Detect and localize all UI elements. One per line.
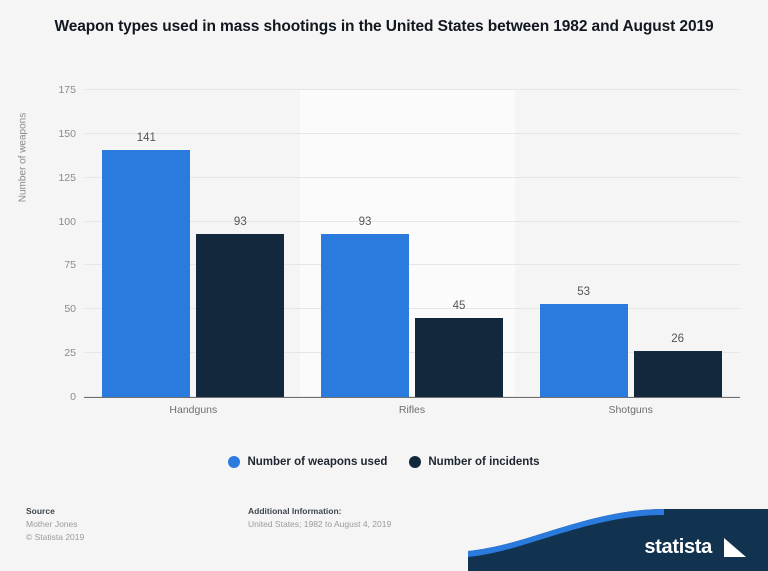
y-tick-label: 175 — [36, 84, 76, 96]
bar-value-label: 53 — [577, 286, 590, 298]
bar-value-label: 93 — [234, 216, 247, 228]
additional-info-text: United States; 1982 to August 4, 2019 — [248, 518, 391, 531]
bar-value-label: 26 — [671, 333, 684, 345]
chart-title: Weapon types used in mass shootings in t… — [44, 16, 724, 38]
footer-additional-info: Additional Information: United States; 1… — [248, 505, 391, 531]
y-tick-label: 25 — [36, 347, 76, 359]
statista-chart: Weapon types used in mass shootings in t… — [0, 0, 768, 571]
chart-legend: Number of weapons usedNumber of incident… — [0, 456, 768, 468]
bar[interactable]: 53 — [540, 304, 628, 397]
additional-info-heading: Additional Information: — [248, 505, 391, 518]
source-name: Mother Jones — [26, 518, 84, 531]
source-heading: Source — [26, 505, 84, 518]
y-tick-label: 100 — [36, 216, 76, 228]
y-tick-label: 150 — [36, 128, 76, 140]
legend-color-swatch — [409, 456, 421, 468]
bar-value-label: 93 — [359, 216, 372, 228]
y-axis-ticks: 0255075100125150175 — [34, 90, 76, 397]
statista-logo[interactable]: statista — [468, 509, 768, 571]
y-tick-label: 50 — [36, 303, 76, 315]
bar[interactable]: 45 — [415, 318, 503, 397]
statista-logo-mark — [724, 538, 746, 557]
bar[interactable]: 141 — [102, 150, 190, 397]
x-tick-label: Handguns — [169, 404, 217, 416]
y-axis-title: Number of weapons — [18, 88, 29, 228]
logo-swoosh-shape — [468, 509, 768, 571]
legend-label: Number of incidents — [428, 456, 539, 468]
bar[interactable]: 26 — [634, 351, 722, 397]
y-tick-label: 75 — [36, 259, 76, 271]
statista-wordmark: statista — [644, 536, 712, 559]
legend-color-swatch — [228, 456, 240, 468]
y-tick-label: 0 — [36, 391, 76, 403]
plot-area: 1419393455326 — [84, 90, 740, 397]
bar[interactable]: 93 — [321, 234, 409, 397]
bar[interactable]: 93 — [196, 234, 284, 397]
gridline — [84, 133, 740, 134]
x-tick-label: Rifles — [399, 404, 425, 416]
legend-label: Number of weapons used — [247, 456, 387, 468]
x-axis-line — [84, 397, 740, 399]
legend-item[interactable]: Number of weapons used — [228, 456, 387, 468]
bar-value-label: 141 — [137, 132, 156, 144]
legend-item[interactable]: Number of incidents — [409, 456, 539, 468]
gridline — [84, 89, 740, 90]
copyright-text: © Statista 2019 — [26, 531, 84, 544]
footer-source: Source Mother Jones © Statista 2019 — [26, 505, 84, 545]
x-axis-ticks: HandgunsRiflesShotguns — [84, 404, 740, 424]
x-tick-label: Shotguns — [608, 404, 652, 416]
bar-value-label: 45 — [453, 300, 466, 312]
y-tick-label: 125 — [36, 172, 76, 184]
